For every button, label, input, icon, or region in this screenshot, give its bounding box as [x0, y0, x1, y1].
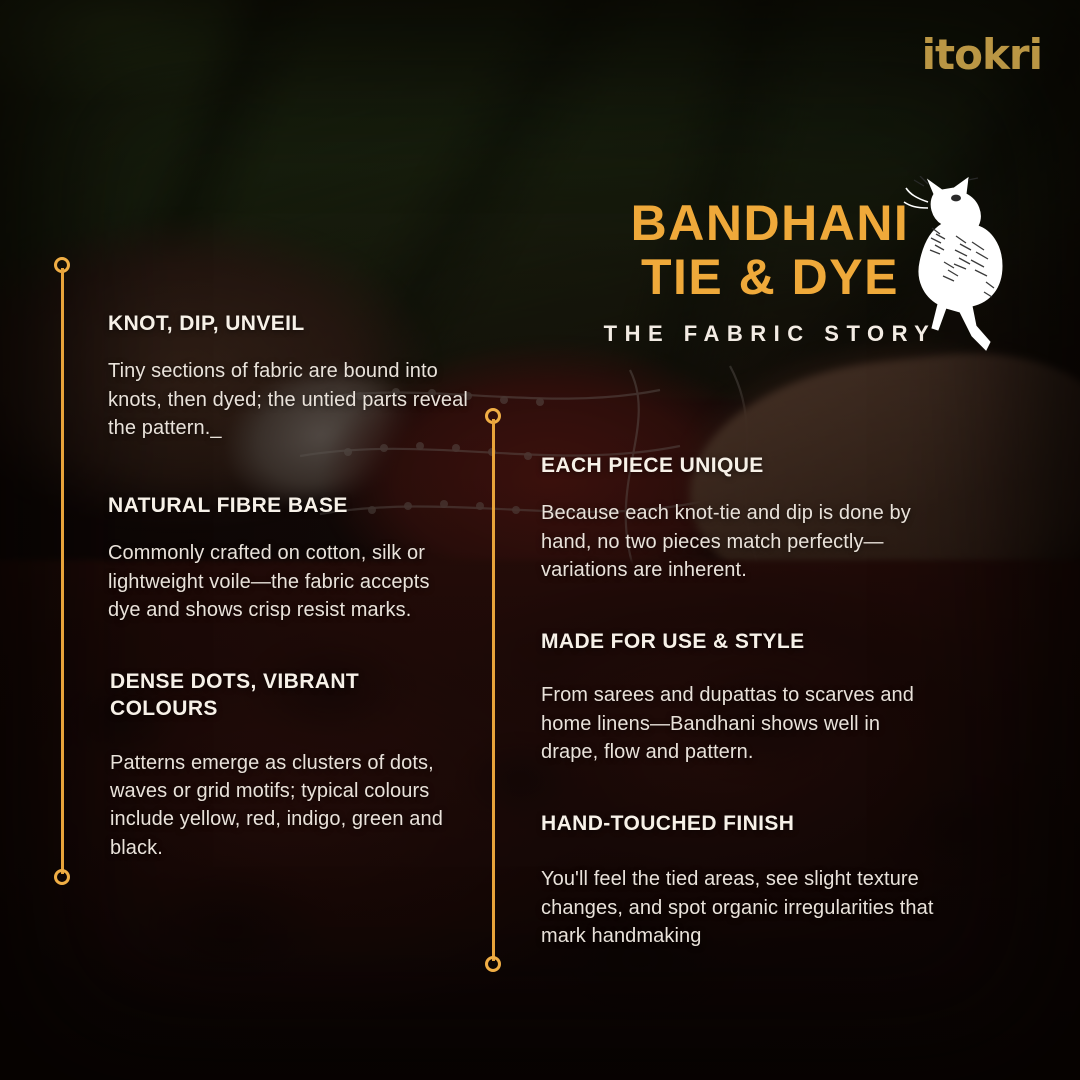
- block-heading: NATURAL FIBRE BASE: [108, 492, 466, 519]
- cat-illustration: [898, 176, 1018, 356]
- infographic-poster: itokri BANDHANI TIE & DYE THE FABRIC STO…: [0, 0, 1080, 1080]
- block-body: Tiny sections of fabric are bound into k…: [108, 357, 468, 442]
- block-body: Commonly crafted on cotton, silk or ligh…: [108, 539, 466, 624]
- rail-stem: [61, 268, 64, 874]
- block-heading: EACH PIECE UNIQUE: [541, 452, 941, 479]
- block-body: Because each knot-tie and dip is done by…: [541, 499, 941, 584]
- timeline-rail-right: [482, 408, 504, 972]
- info-block-made-for-use-and-style: MADE FOR USE & STYLE From sarees and dup…: [541, 628, 941, 766]
- info-block-each-piece-unique: EACH PIECE UNIQUE Because each knot-tie …: [541, 452, 941, 584]
- block-body: You'll feel the tied areas, see slight t…: [541, 865, 949, 950]
- info-block-knot-dip-unveil: KNOT, DIP, UNVEIL Tiny sections of fabri…: [108, 310, 468, 442]
- block-heading: HAND-TOUCHED FINISH: [541, 810, 949, 837]
- info-block-hand-touched-finish: HAND-TOUCHED FINISH You'll feel the tied…: [541, 810, 949, 950]
- info-block-dense-dots-vibrant-colours: DENSE DOTS, VIBRANT COLOURS Patterns eme…: [110, 668, 460, 862]
- rail-node-bottom-icon: [485, 956, 501, 972]
- itokri-logo[interactable]: itokri: [922, 34, 1042, 76]
- block-heading: DENSE DOTS, VIBRANT COLOURS: [110, 668, 460, 723]
- block-body: Patterns emerge as clusters of dots, wav…: [110, 749, 460, 863]
- block-body: From sarees and dupattas to scarves and …: [541, 681, 941, 766]
- info-block-natural-fibre-base: NATURAL FIBRE BASE Commonly crafted on c…: [108, 492, 466, 624]
- timeline-rail-left: [51, 257, 73, 885]
- block-heading: MADE FOR USE & STYLE: [541, 628, 941, 655]
- rail-stem: [492, 419, 495, 961]
- block-heading: KNOT, DIP, UNVEIL: [108, 310, 468, 337]
- rail-node-bottom-icon: [54, 869, 70, 885]
